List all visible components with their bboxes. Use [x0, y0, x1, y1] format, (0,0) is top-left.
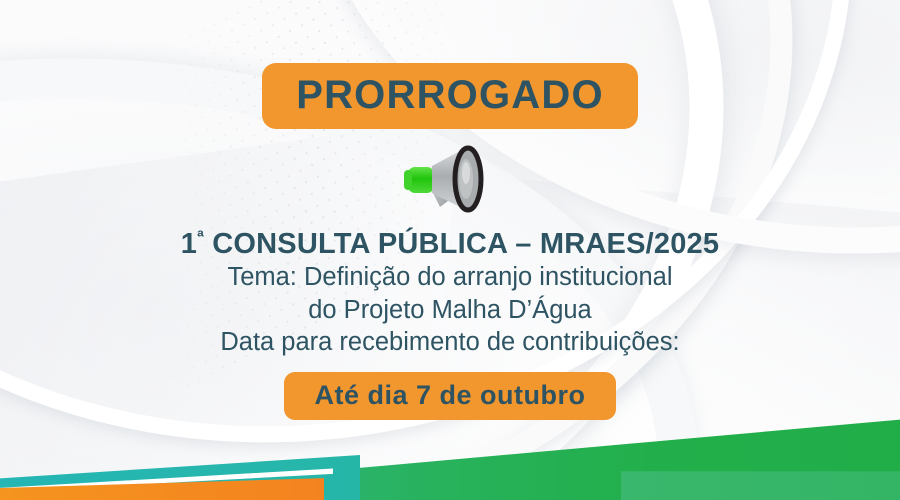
poster-canvas: PRORROGADO — [0, 0, 900, 500]
page-title-rest: CONSULTA PÚBLICA – MRAES/2025 — [204, 228, 719, 260]
megaphone-icon — [390, 143, 510, 215]
deadline-badge: Até dia 7 de outubro — [284, 372, 615, 420]
subtitle-line-1: Tema: Definição do arranjo institucional — [181, 261, 719, 294]
poster-content: PRORROGADO — [0, 0, 900, 500]
page-title-ordinal-number: 1 — [181, 228, 197, 260]
subtitle-line-3: Data para recebimento de contribuições: — [181, 326, 719, 359]
status-badge: PRORROGADO — [262, 63, 638, 129]
page-title: 1ª CONSULTA PÚBLICA – MRAES/2025 — [181, 227, 719, 261]
page-title-ordinal-suffix: ª — [197, 227, 204, 247]
headings-block: 1ª CONSULTA PÚBLICA – MRAES/2025 Tema: D… — [181, 227, 719, 359]
subtitle-line-2: do Projeto Malha D’Água — [181, 294, 719, 327]
